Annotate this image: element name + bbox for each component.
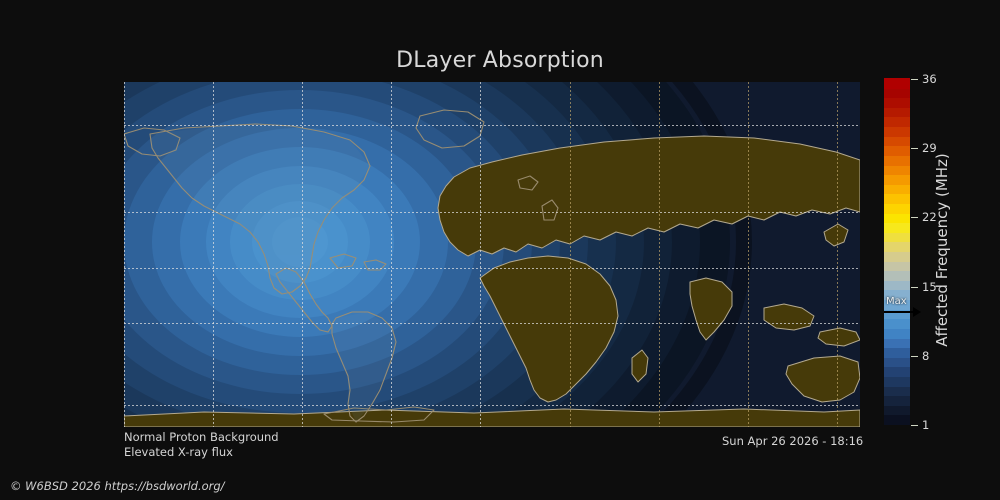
colorbar-segment [884, 357, 910, 367]
colorbar-segment [884, 184, 910, 194]
colorbar-tick [911, 425, 918, 426]
colorbar-segment [884, 203, 910, 213]
colorbar-segment [884, 376, 910, 386]
copyright: © W6BSD 2026 https://bsdworld.org/ [10, 479, 225, 493]
page-title: DLayer Absorption [0, 48, 1000, 73]
colorbar-tick [911, 217, 918, 218]
colorbar-segment [884, 223, 910, 233]
colorbar-segment [884, 280, 910, 290]
colorbar-tick [911, 148, 918, 149]
colorbar[interactable]: 1815222936 Max [884, 79, 910, 425]
colorbar-segment [884, 213, 910, 223]
colorbar-segment [884, 126, 910, 136]
colorbar-segment [884, 78, 910, 88]
colorbar-segment [884, 98, 910, 108]
colorbar-axis-label-text: Affected Frequency (MHz) [933, 153, 951, 347]
colorbar-tick [911, 79, 918, 80]
timestamp: Sun Apr 26 2026 - 18:16 [722, 434, 863, 448]
colorbar-segment [884, 405, 910, 415]
map-canvas [124, 82, 860, 427]
colorbar-segment [884, 242, 910, 252]
colorbar-segment [884, 415, 910, 425]
colorbar-axis-label: Affected Frequency (MHz) [930, 70, 954, 430]
world-map[interactable] [124, 82, 860, 427]
colorbar-segment [884, 146, 910, 156]
colorbar-segment [884, 155, 910, 165]
colorbar-segment [884, 175, 910, 185]
max-arrow-icon [884, 311, 914, 313]
colorbar-tick-label: 1 [922, 418, 929, 432]
colorbar-segment [884, 328, 910, 338]
colorbar-segment [884, 367, 910, 377]
note-xray-flux: Elevated X-ray flux [124, 445, 233, 459]
colorbar-segment [884, 251, 910, 261]
colorbar-segment [884, 386, 910, 396]
colorbar-tick [911, 356, 918, 357]
colorbar-segment [884, 107, 910, 117]
colorbar-segment [884, 261, 910, 271]
colorbar-segment [884, 232, 910, 242]
colorbar-segment [884, 88, 910, 98]
colorbar-gradient [884, 79, 910, 425]
colorbar-tick [911, 287, 918, 288]
colorbar-segment [884, 271, 910, 281]
colorbar-segment [884, 194, 910, 204]
max-marker: Max [884, 296, 924, 326]
colorbar-segment [884, 338, 910, 348]
colorbar-segment [884, 117, 910, 127]
colorbar-segment [884, 348, 910, 358]
colorbar-segment [884, 165, 910, 175]
note-proton-background: Normal Proton Background [124, 430, 279, 444]
max-marker-label: Max [886, 296, 907, 307]
colorbar-tick-label: 8 [922, 349, 929, 363]
colorbar-segment [884, 136, 910, 146]
colorbar-segment [884, 396, 910, 406]
